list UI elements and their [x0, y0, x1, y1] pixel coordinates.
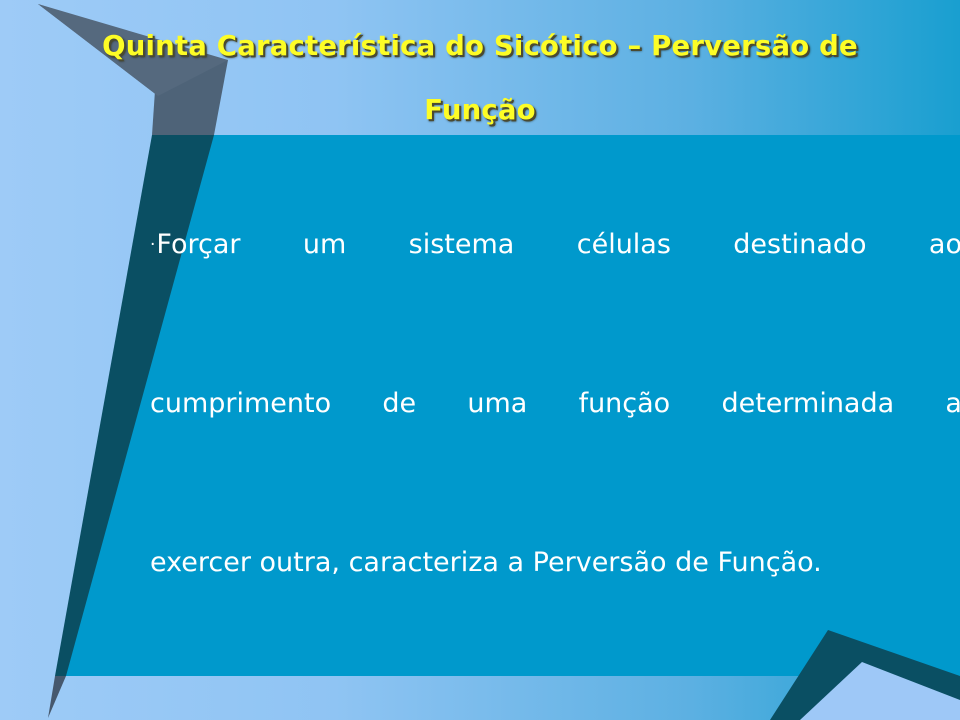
- body-bullet-and-word: ·Forçar: [150, 228, 241, 262]
- bottom-right-dark-triangle: [770, 630, 960, 720]
- body-word: função: [579, 387, 671, 421]
- slide-body: ·Forçar um sistema células destinado ao …: [150, 228, 960, 580]
- body-word: determinada: [721, 387, 894, 421]
- body-line-spacer: [150, 262, 960, 387]
- body-word: Forçar: [156, 229, 240, 260]
- body-line-2: cumprimento de uma função determinada a: [150, 387, 960, 421]
- body-word: de: [382, 387, 416, 421]
- body-word: sistema: [409, 228, 515, 262]
- left-spike-tail-shape: [48, 676, 66, 718]
- body-word: uma: [467, 387, 527, 421]
- slide-title-line-1: Quinta Característica do Sicótico – Perv…: [0, 14, 960, 78]
- body-line-1: ·Forçar um sistema células destinado ao: [150, 228, 960, 262]
- slide-title: Quinta Característica do Sicótico – Perv…: [0, 14, 960, 142]
- slide-canvas: Quinta Característica do Sicótico – Perv…: [0, 0, 960, 720]
- body-word: cumprimento: [150, 387, 331, 421]
- slide-title-line-2: Função: [0, 78, 960, 142]
- body-word: destinado: [733, 228, 866, 262]
- body-word: a: [945, 387, 960, 421]
- body-word: ao: [929, 228, 960, 262]
- bottom-right-light-triangle: [800, 662, 960, 720]
- body-word: um: [303, 228, 346, 262]
- bullet-dot-icon: ·: [150, 235, 155, 255]
- body-line-spacer: [150, 421, 960, 546]
- body-word: células: [577, 228, 671, 262]
- body-line-3: exercer outra, caracteriza a Perversão d…: [150, 546, 960, 580]
